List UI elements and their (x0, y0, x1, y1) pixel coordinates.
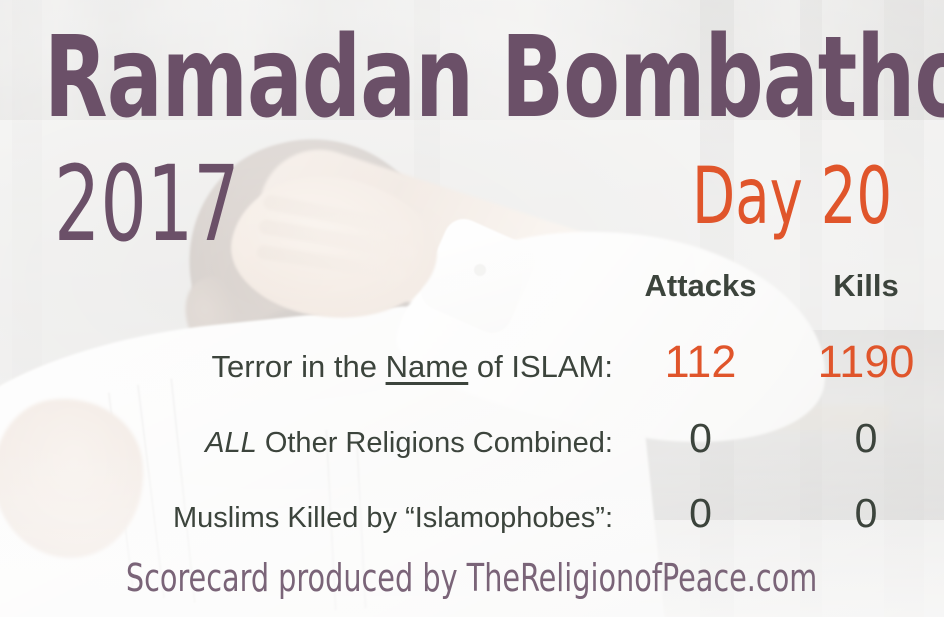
row-label-prefix: Terror in the (212, 349, 386, 384)
row-label-other-religions: ALL Other Religions Combined: (0, 427, 613, 460)
cell-kills-other: 0 (788, 415, 944, 462)
scorecard-table: Attacks Kills Terror in the Name of ISLA… (0, 268, 944, 537)
column-header-kills: Kills (788, 268, 944, 304)
footer-credit-text: Scorecard produced by TheReligionofPeace… (126, 556, 817, 600)
table-row: Muslims Killed by “Islamophobes”: 0 0 (0, 490, 944, 537)
row-label-islamophobes: Muslims Killed by “Islamophobes”: (0, 502, 613, 535)
scorecard-graphic: Ramadan Bombathon 2017 Day 20 Attacks Ki… (0, 0, 944, 617)
column-header-attacks: Attacks (613, 268, 788, 304)
row-label-italic: ALL (205, 427, 257, 459)
year-label: 2017 (54, 152, 240, 256)
row-label-islam: Terror in the Name of ISLAM: (0, 349, 613, 385)
footer-credit: Scorecard produced by TheReligionofPeace… (0, 556, 944, 600)
row-label-rest: Other Religions Combined: (257, 427, 613, 459)
main-title: Ramadan Bombathon (44, 22, 766, 134)
table-row: Terror in the Name of ISLAM: 112 1190 (0, 336, 944, 388)
row-label-suffix: of ISLAM: (468, 349, 613, 384)
table-row: ALL Other Religions Combined: 0 0 (0, 415, 944, 462)
row-label-underlined: Name (386, 349, 469, 384)
cell-kills-islam: 1190 (788, 336, 944, 388)
cell-attacks-other: 0 (613, 415, 788, 462)
cell-attacks-islamophobes: 0 (613, 490, 788, 537)
day-counter: Day 20 (692, 158, 892, 236)
cell-attacks-islam: 112 (613, 336, 788, 388)
table-header-row: Attacks Kills (0, 268, 944, 314)
cell-kills-islamophobes: 0 (788, 490, 944, 537)
